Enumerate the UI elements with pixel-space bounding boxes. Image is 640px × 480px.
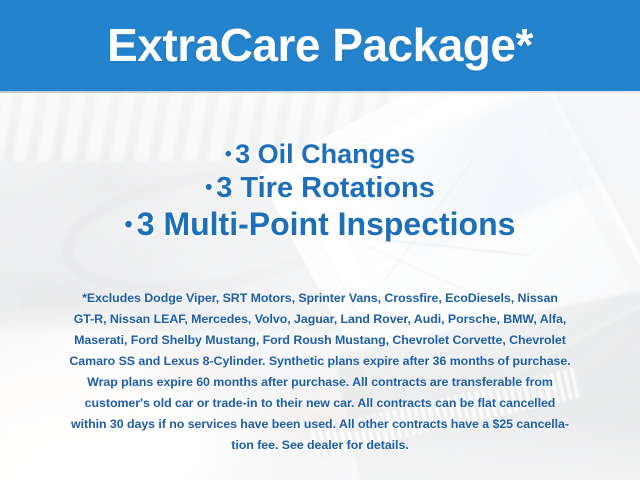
list-item: •3 Tire Rotations [0, 173, 640, 204]
list-item: •3 Oil Changes [0, 140, 640, 169]
disclaimer-line: *Excludes Dodge Viper, SRT Motors, Sprin… [20, 288, 620, 309]
disclaimer-line: within 30 days if no services have been … [20, 414, 620, 435]
list-item-label: 3 Tire Rotations [216, 172, 435, 204]
list-item-label: 3 Oil Changes [235, 139, 415, 169]
banner-bottom-edge [0, 91, 640, 93]
disclaimer-line: GT-R, Nissan LEAF, Mercedes, Volvo, Jagu… [20, 309, 620, 330]
disclaimer-line: Maserati, Ford Shelby Mustang, Ford Rous… [20, 330, 620, 351]
bullet-dot-icon: • [205, 176, 212, 199]
disclaimer-line: Wrap plans expire 60 months after purcha… [20, 372, 620, 393]
bullet-dot-icon: • [125, 211, 133, 237]
list-item: •3 Multi-Point Inspections [0, 208, 640, 242]
bullet-dot-icon: • [225, 143, 232, 165]
disclaimer-line: customer's old car or trade-in to their … [20, 393, 620, 414]
header-banner: ExtraCare Package* [0, 0, 640, 91]
disclaimer-text: *Excludes Dodge Viper, SRT Motors, Sprin… [20, 288, 620, 456]
disclaimer-line: Camaro SS and Lexus 8-Cylinder. Syntheti… [20, 351, 620, 372]
disclaimer-line: tion fee. See dealer for details. [20, 435, 620, 456]
extracare-promo-banner: ExtraCare Package* •3 Oil Changes •3 Tir… [0, 0, 640, 480]
page-title: ExtraCare Package* [107, 22, 533, 68]
list-item-label: 3 Multi-Point Inspections [137, 206, 516, 242]
package-benefits-list: •3 Oil Changes •3 Tire Rotations •3 Mult… [0, 140, 640, 242]
